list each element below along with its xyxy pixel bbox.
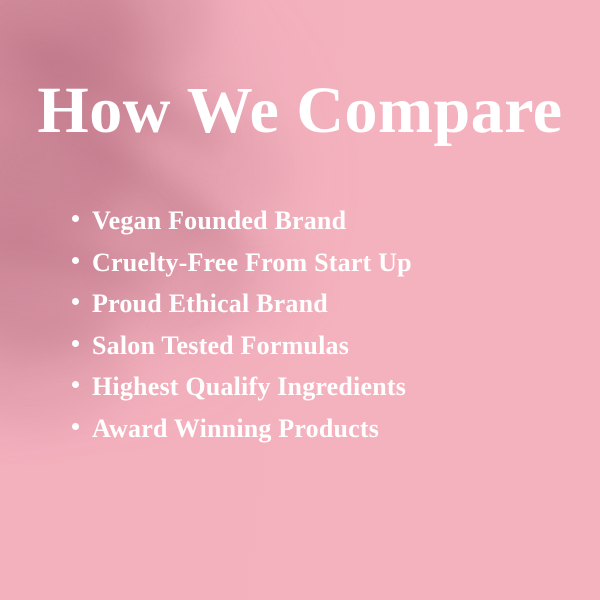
bullet-dot-icon: [72, 298, 79, 305]
feature-label: Award Winning Products: [92, 408, 379, 450]
list-item: Award Winning Products: [72, 408, 412, 450]
bullet-dot-icon: [72, 423, 79, 430]
promo-poster: How We Compare Vegan Founded Brand Cruel…: [0, 0, 600, 600]
bullet-dot-icon: [72, 257, 79, 264]
bullet-dot-icon: [72, 381, 79, 388]
feature-label: Proud Ethical Brand: [92, 283, 328, 325]
list-item: Salon Tested Formulas: [72, 325, 412, 367]
bullet-dot-icon: [72, 340, 79, 347]
list-item: Proud Ethical Brand: [72, 283, 412, 325]
bullet-dot-icon: [72, 215, 79, 222]
feature-label: Salon Tested Formulas: [92, 325, 349, 367]
feature-label: Vegan Founded Brand: [92, 200, 346, 242]
feature-list: Vegan Founded Brand Cruelty-Free From St…: [72, 200, 412, 449]
list-item: Highest Qualify Ingredients: [72, 366, 412, 408]
list-item: Vegan Founded Brand: [72, 200, 412, 242]
feature-label: Cruelty-Free From Start Up: [92, 242, 412, 284]
poster-content: How We Compare Vegan Founded Brand Cruel…: [0, 0, 600, 600]
feature-label: Highest Qualify Ingredients: [92, 366, 406, 408]
page-title: How We Compare: [0, 78, 600, 144]
list-item: Cruelty-Free From Start Up: [72, 242, 412, 284]
